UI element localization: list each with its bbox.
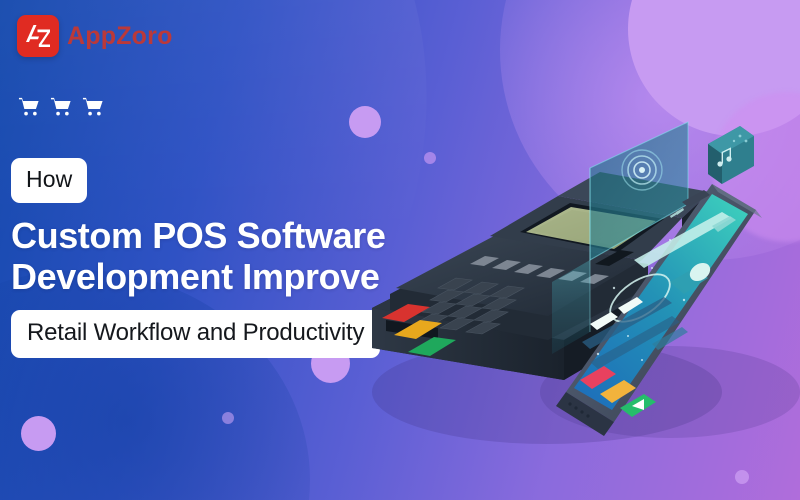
shopping-cart-icon [82,95,105,118]
brand-name: AppZoro [67,22,173,51]
device-illustration [352,92,800,500]
shopping-cart-icon [50,95,73,118]
eyebrow-badge: How [11,158,87,203]
decor-circle-5 [21,416,56,451]
appzoro-mark-icon [17,15,59,57]
decor-circle-4 [222,412,234,424]
floating-music-tile [708,126,754,184]
promo-banner: AppZoro How Custom POS Software Developm… [0,0,800,500]
shopping-cart-row [18,95,105,118]
subtitle-badge: Retail Workflow and Productivity [11,310,380,358]
headline-line-1: Custom POS Software [11,215,385,256]
shopping-cart-icon [18,95,41,118]
brand-logo[interactable]: AppZoro [17,15,173,57]
